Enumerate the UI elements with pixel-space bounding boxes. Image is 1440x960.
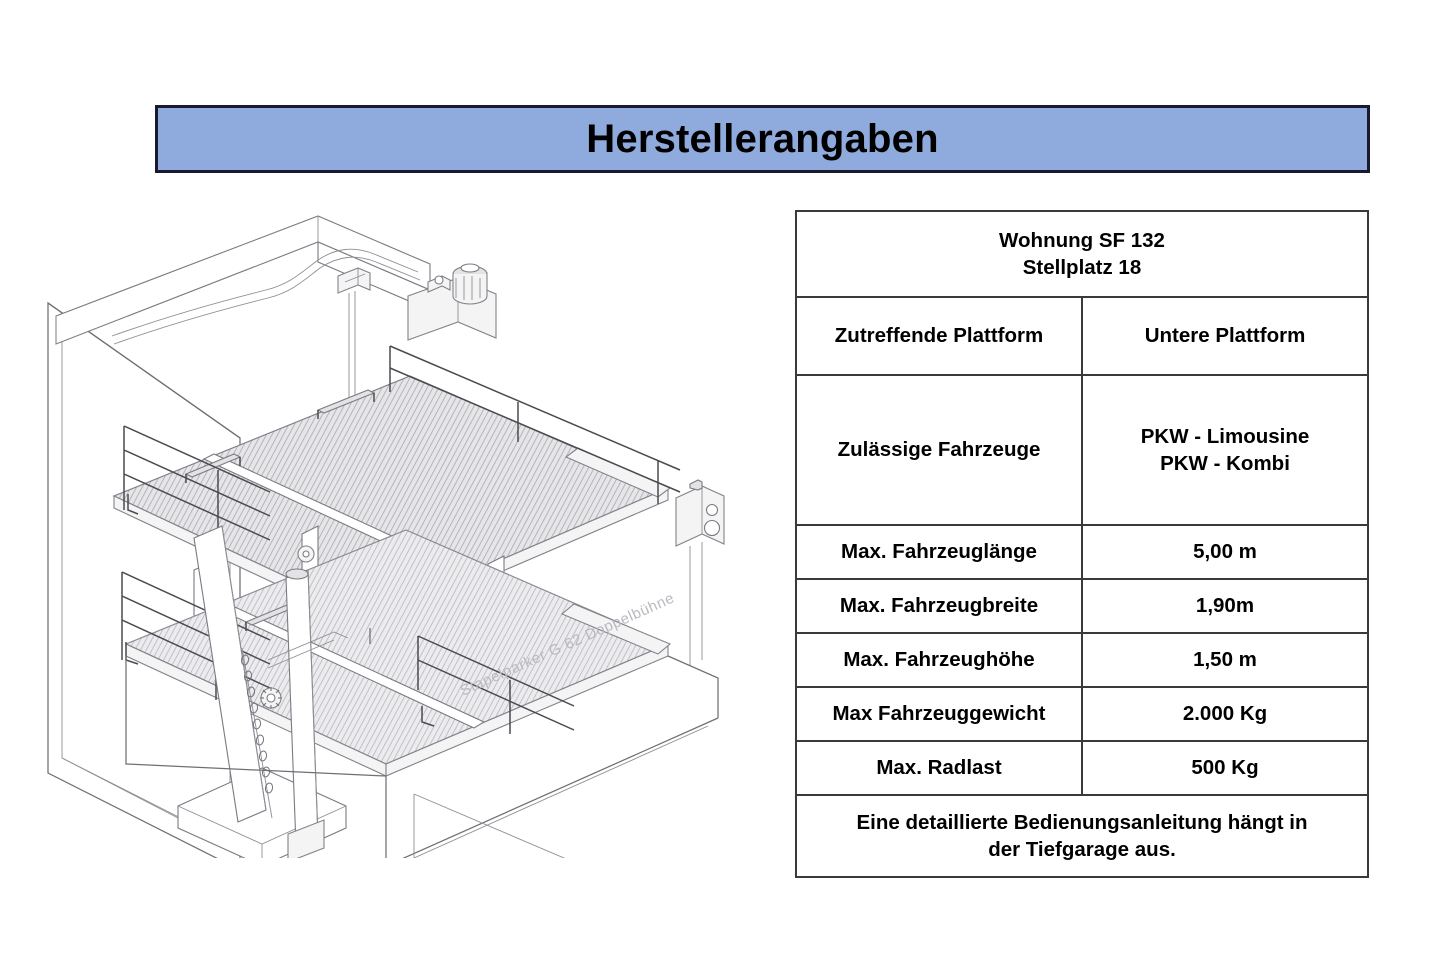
vehicle-type-1: PKW - Limousine [1089, 423, 1361, 450]
row-value-wheel-load: 500 Kg [1082, 741, 1368, 795]
manufacturer-spec-table: Wohnung SF 132 Stellplatz 18 Zutreffende… [795, 210, 1369, 878]
table-row-header: Wohnung SF 132 Stellplatz 18 [796, 211, 1368, 297]
row-value-width: 1,90m [1082, 579, 1368, 633]
ceiling-beam-group [56, 216, 430, 344]
row-label-length: Max. Fahrzeuglänge [796, 525, 1082, 579]
table-row-height: Max. Fahrzeughöhe 1,50 m [796, 633, 1368, 687]
row-value-platform: Untere Plattform [1082, 297, 1368, 375]
control-panel [676, 480, 724, 666]
table-row-width: Max. Fahrzeugbreite 1,90m [796, 579, 1368, 633]
row-label-vehicles: Zulässige Fahrzeuge [796, 375, 1082, 525]
row-value-weight: 2.000 Kg [1082, 687, 1368, 741]
table-row-note: Eine detaillierte Bedienungsanleitung hä… [796, 795, 1368, 877]
row-label-wheel-load: Max. Radlast [796, 741, 1082, 795]
row-value-length: 5,00 m [1082, 525, 1368, 579]
parking-lift-technical-drawing: Stapelparker G 62 Doppelbühne [18, 198, 778, 858]
manual-notice-cell: Eine detaillierte Bedienungsanleitung hä… [796, 795, 1368, 877]
table-row-vehicles: Zulässige Fahrzeuge PKW - Limousine PKW … [796, 375, 1368, 525]
apartment-label: Wohnung SF 132 [803, 227, 1361, 254]
page-title-banner: Herstellerangaben [155, 105, 1370, 173]
parking-space-label: Stellplatz 18 [803, 254, 1361, 281]
unit-identification-cell: Wohnung SF 132 Stellplatz 18 [796, 211, 1368, 297]
page-title: Herstellerangaben [586, 119, 938, 159]
row-label-platform: Zutreffende Plattform [796, 297, 1082, 375]
row-value-height: 1,50 m [1082, 633, 1368, 687]
table-row-length: Max. Fahrzeuglänge 5,00 m [796, 525, 1368, 579]
manual-notice-line-1: Eine detaillierte Bedienungsanleitung hä… [803, 809, 1361, 836]
row-value-vehicles: PKW - Limousine PKW - Kombi [1082, 375, 1368, 525]
manual-notice-line-2: der Tiefgarage aus. [803, 836, 1361, 863]
table-row-weight: Max Fahrzeuggewicht 2.000 Kg [796, 687, 1368, 741]
row-label-weight: Max Fahrzeuggewicht [796, 687, 1082, 741]
row-label-width: Max. Fahrzeugbreite [796, 579, 1082, 633]
table-row-platform: Zutreffende Plattform Untere Plattform [796, 297, 1368, 375]
row-label-height: Max. Fahrzeughöhe [796, 633, 1082, 687]
table-row-wheel-load: Max. Radlast 500 Kg [796, 741, 1368, 795]
vehicle-type-2: PKW - Kombi [1089, 450, 1361, 477]
